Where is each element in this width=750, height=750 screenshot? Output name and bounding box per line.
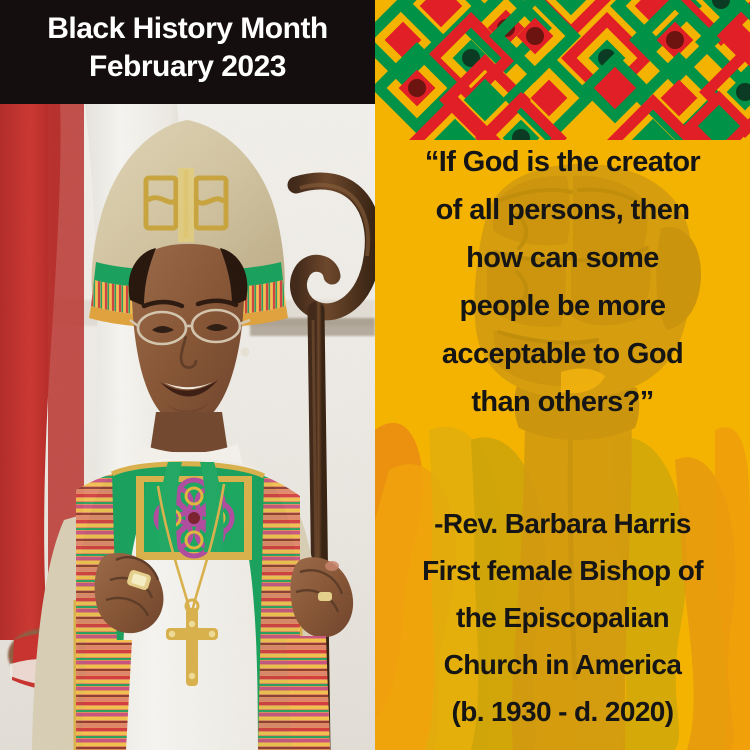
attribution-line: Church in America bbox=[375, 641, 750, 688]
quote-line: acceptable to God bbox=[375, 330, 750, 378]
quote-panel: “If God is the creator of all persons, t… bbox=[375, 0, 750, 750]
poster-title-bar: Black History Month February 2023 bbox=[0, 0, 375, 104]
attribution-line: the Episcopalian bbox=[375, 594, 750, 641]
quote-line: “If God is the creator bbox=[375, 138, 750, 186]
attribution-dates: (b. 1930 - d. 2020) bbox=[375, 688, 750, 735]
quote-line: of all persons, then bbox=[375, 186, 750, 234]
attribution-line: First female Bishop of bbox=[375, 547, 750, 594]
quote-line: how can some bbox=[375, 234, 750, 282]
page-title-line1: Black History Month bbox=[0, 11, 375, 47]
quote-line: people be more bbox=[375, 282, 750, 330]
page-title-line2: February 2023 bbox=[0, 49, 375, 85]
attribution-block: -Rev. Barbara Harris First female Bishop… bbox=[375, 500, 750, 735]
bishop-photograph bbox=[0, 0, 375, 750]
quote-text: “If God is the creator of all persons, t… bbox=[375, 138, 750, 426]
attribution-name: -Rev. Barbara Harris bbox=[375, 500, 750, 547]
kente-diamond-band bbox=[375, 0, 750, 140]
black-history-month-poster: Black History Month February 2023 bbox=[0, 0, 750, 750]
quote-line: than others?” bbox=[375, 378, 750, 426]
